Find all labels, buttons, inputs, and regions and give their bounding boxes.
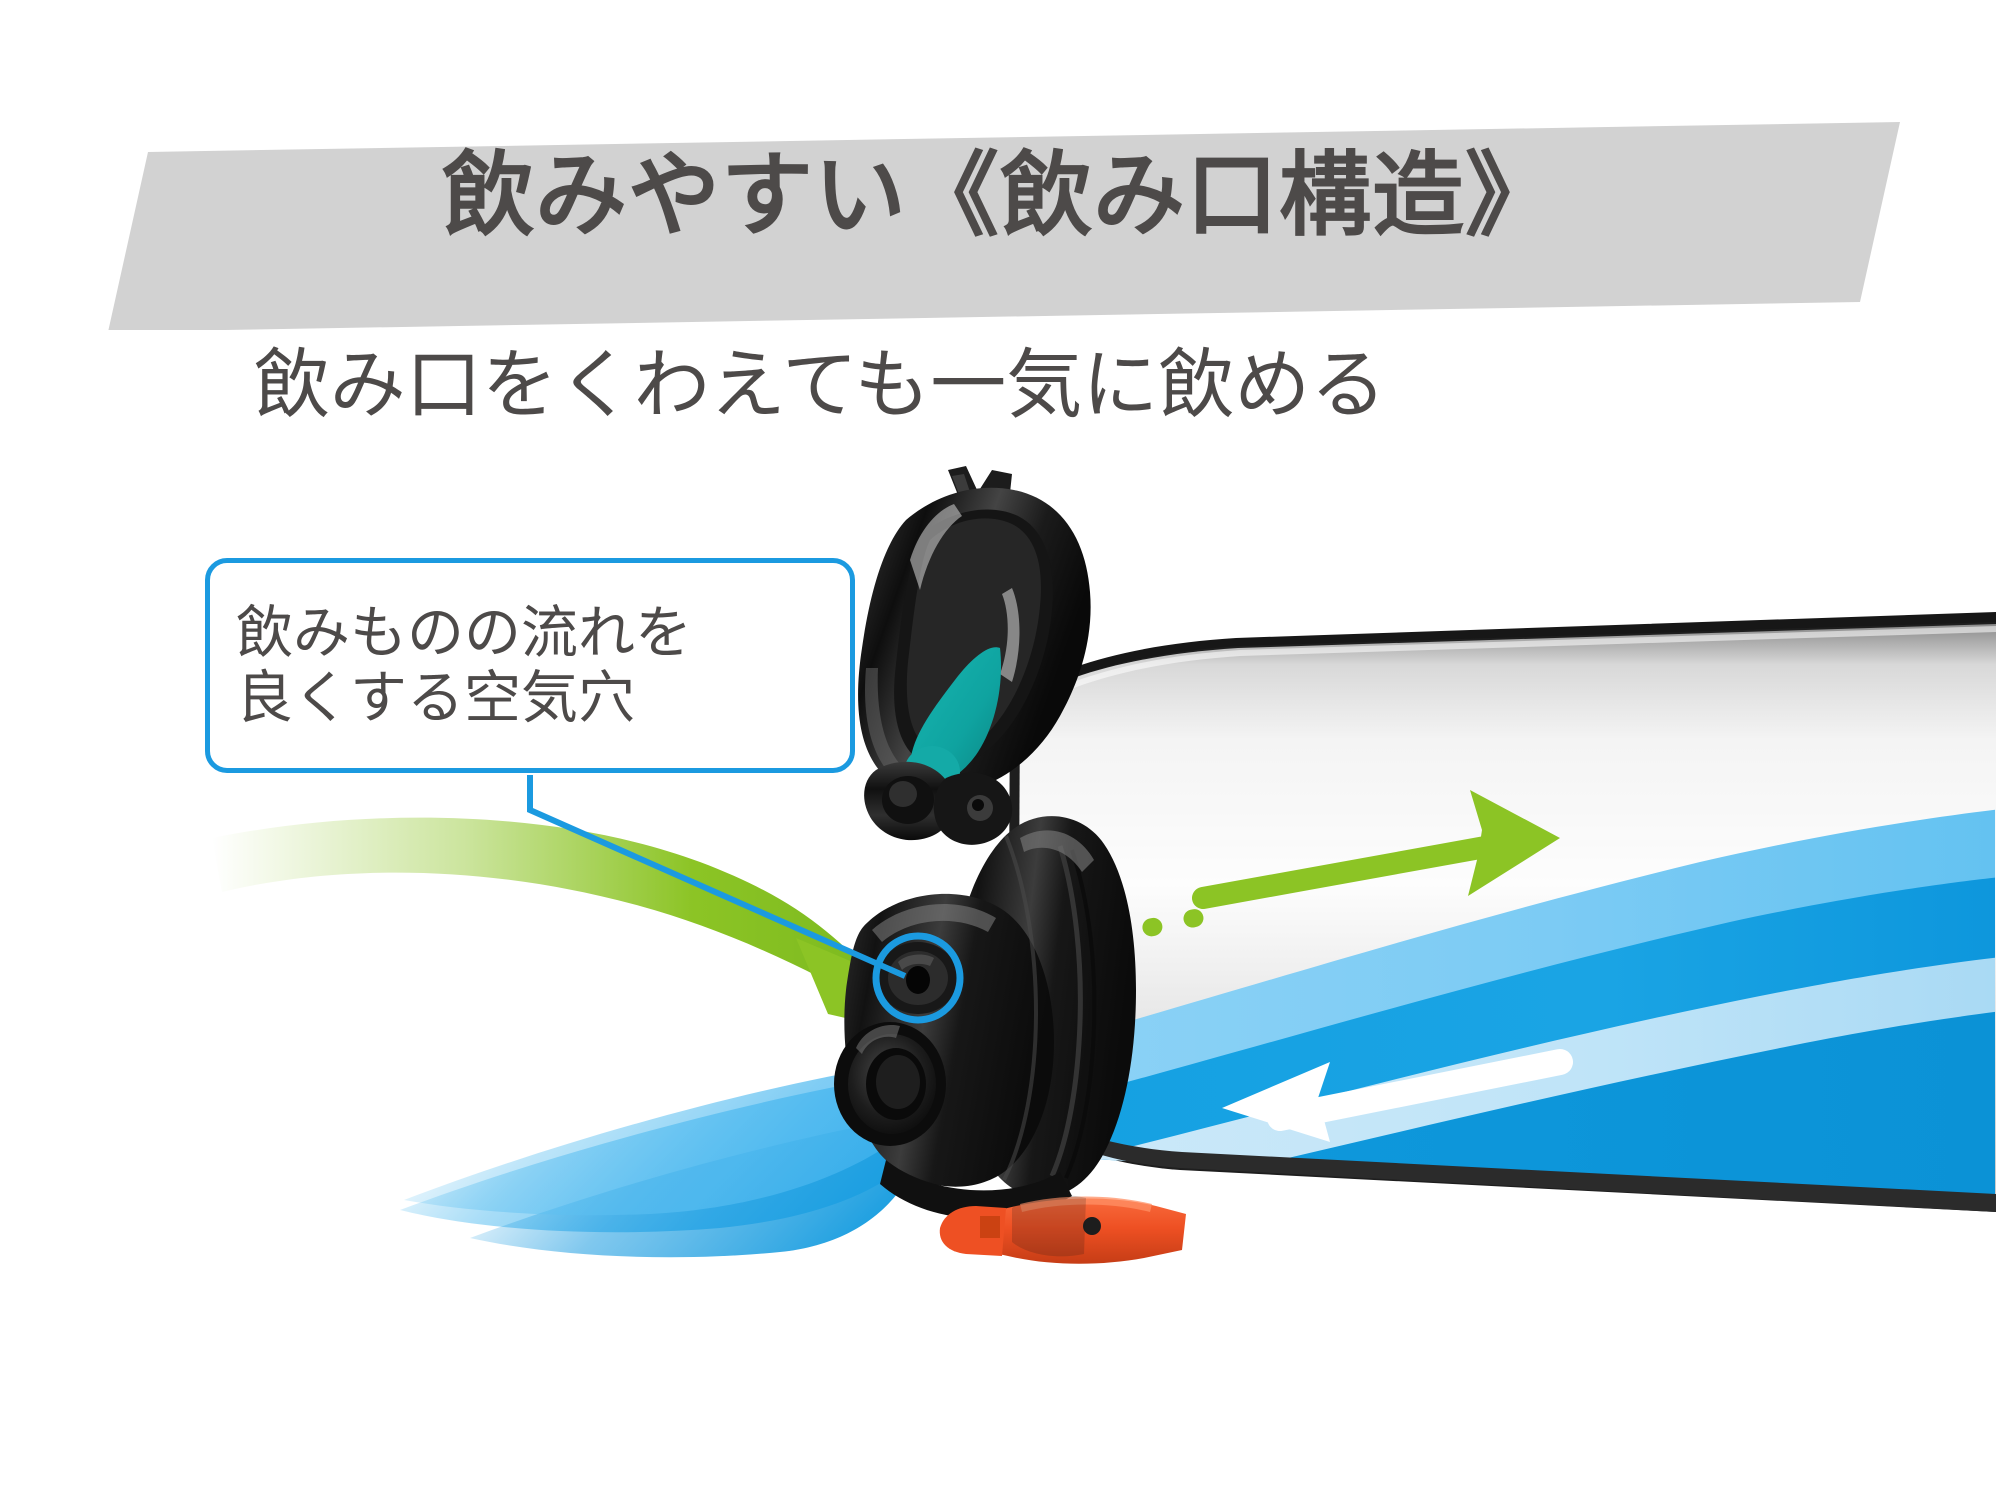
drinking-spout — [834, 1022, 946, 1146]
air-hole — [878, 942, 958, 1014]
callout-box: 飲みものの流れを 良くする空気穴 — [205, 558, 855, 773]
bottle-body — [990, 612, 2000, 1280]
infographic-canvas: 飲みやすい《飲み口構造》 飲み口をくわえても一気に飲める — [0, 0, 2000, 1500]
callout-line-2: 良くする空気穴 — [236, 666, 824, 730]
callout-line-1: 飲みものの流れを — [236, 601, 824, 665]
